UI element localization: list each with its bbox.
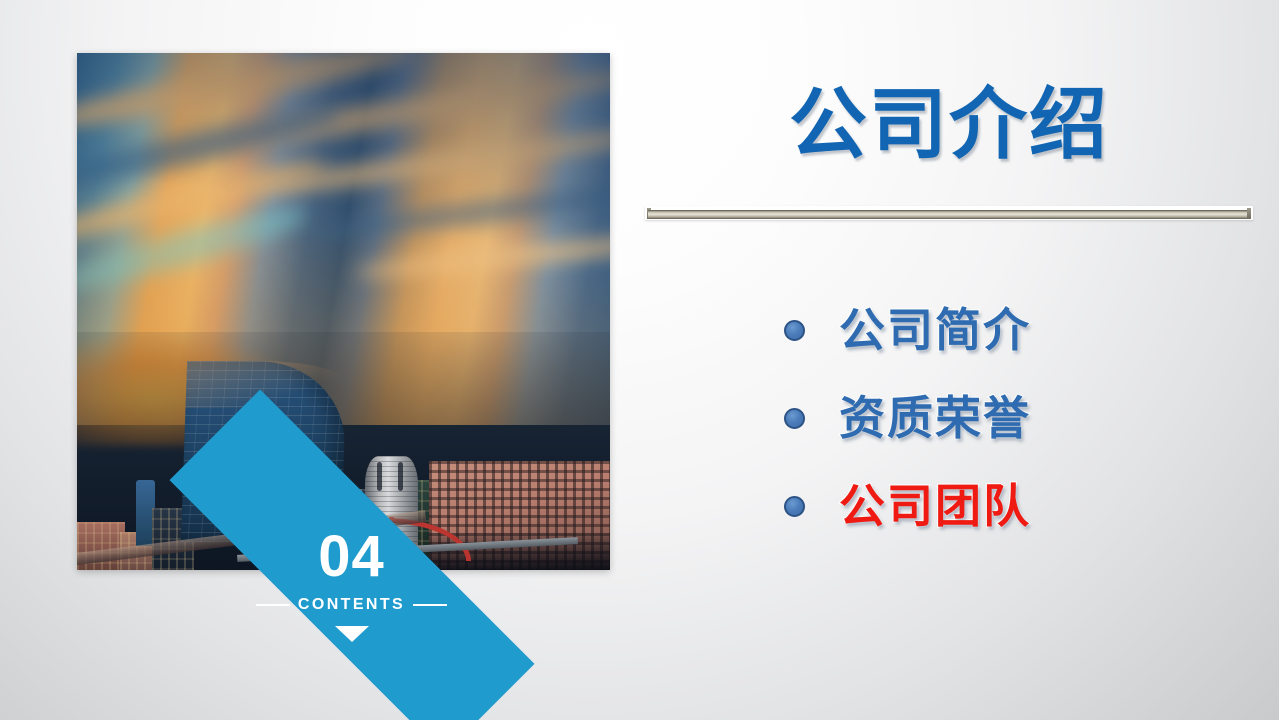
agenda-item-company-profile[interactable]: 公司简介 <box>784 286 1254 374</box>
glass-tower <box>180 361 346 542</box>
divider-cap-right <box>1247 208 1251 219</box>
title-divider <box>645 206 1253 220</box>
down-triangle-icon <box>335 626 369 642</box>
agenda-item-qualifications[interactable]: 资质荣誉 <box>784 374 1254 462</box>
agenda-item-label: 公司简介 <box>839 307 1031 353</box>
badge-rule-right <box>413 604 447 606</box>
bullet-dot-icon <box>784 408 805 429</box>
badge-label: CONTENTS <box>298 596 405 614</box>
agenda-item-team[interactable]: 公司团队 <box>784 462 1254 550</box>
divider-inner-bar <box>648 210 1250 219</box>
agenda-item-label: 公司团队 <box>839 483 1031 529</box>
city-skyline <box>77 332 610 570</box>
photo-canvas <box>77 53 610 570</box>
agenda-list: 公司简介 资质荣誉 公司团队 <box>784 286 1254 550</box>
agenda-item-label: 资质荣誉 <box>839 395 1031 441</box>
bullet-dot-icon <box>784 320 805 341</box>
slide-title: 公司介绍 <box>645 82 1253 168</box>
cityscape-photo <box>77 53 610 570</box>
badge-label-row: CONTENTS <box>256 596 447 614</box>
presentation-slide: 04 CONTENTS 公司介绍 公司简介 资质荣誉 公司团队 <box>0 0 1279 720</box>
bullet-dot-icon <box>784 496 805 517</box>
badge-rule-left <box>256 604 290 606</box>
